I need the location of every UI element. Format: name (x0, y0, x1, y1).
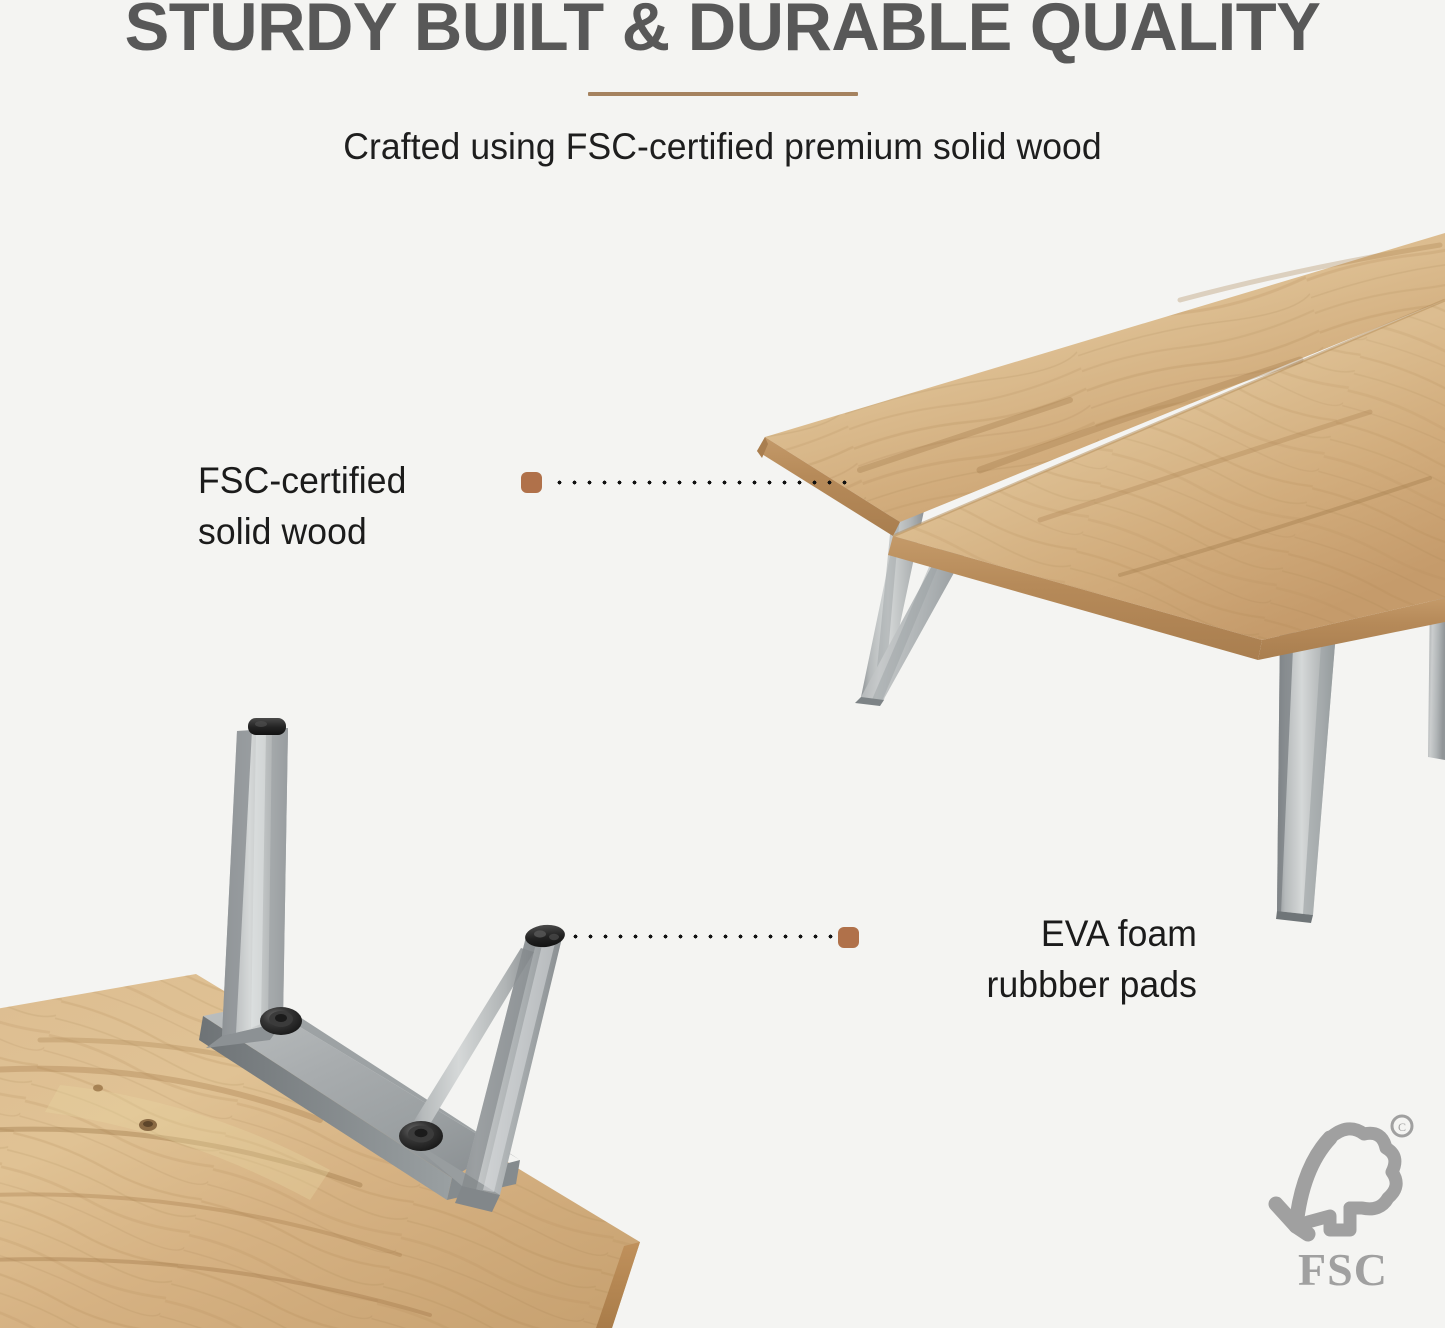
bolt-upper (260, 1007, 302, 1035)
callout-dot-wood (521, 472, 542, 493)
fsc-logo-text: FSC (1268, 1243, 1418, 1296)
table-top-assembly (757, 233, 1445, 923)
callout-dot-pads (838, 927, 859, 948)
bolt-lower (399, 1121, 443, 1151)
product-artwork (0, 0, 1445, 1328)
eva-pad-upright (248, 718, 286, 735)
callout-pads-line1: EVA foam (880, 908, 1197, 959)
callout-leader-wood (552, 479, 852, 486)
callout-wood-line1: FSC-certified (198, 455, 486, 506)
table-leg-right (1276, 624, 1336, 923)
fsc-tree-checkmark-icon: C (1268, 1112, 1418, 1257)
callout-label-pads: EVA foam rubbber pads (880, 908, 1197, 1010)
copyright-icon: C (1392, 1116, 1412, 1136)
svg-text:C: C (1398, 1120, 1406, 1134)
callout-wood-line2: solid wood (198, 506, 486, 557)
callout-pads-line2: rubbber pads (880, 959, 1197, 1010)
bracket-wood-panel (0, 974, 640, 1328)
bracket-assembly (0, 718, 640, 1328)
product-illustration (0, 0, 1445, 1328)
fsc-logo: C FSC (1268, 1112, 1418, 1302)
callout-label-wood: FSC-certified solid wood (198, 455, 486, 557)
callout-leader-pads (568, 933, 836, 940)
marketing-image: STURDY BUILT & DURABLE QUALITY Crafted u… (0, 0, 1445, 1328)
